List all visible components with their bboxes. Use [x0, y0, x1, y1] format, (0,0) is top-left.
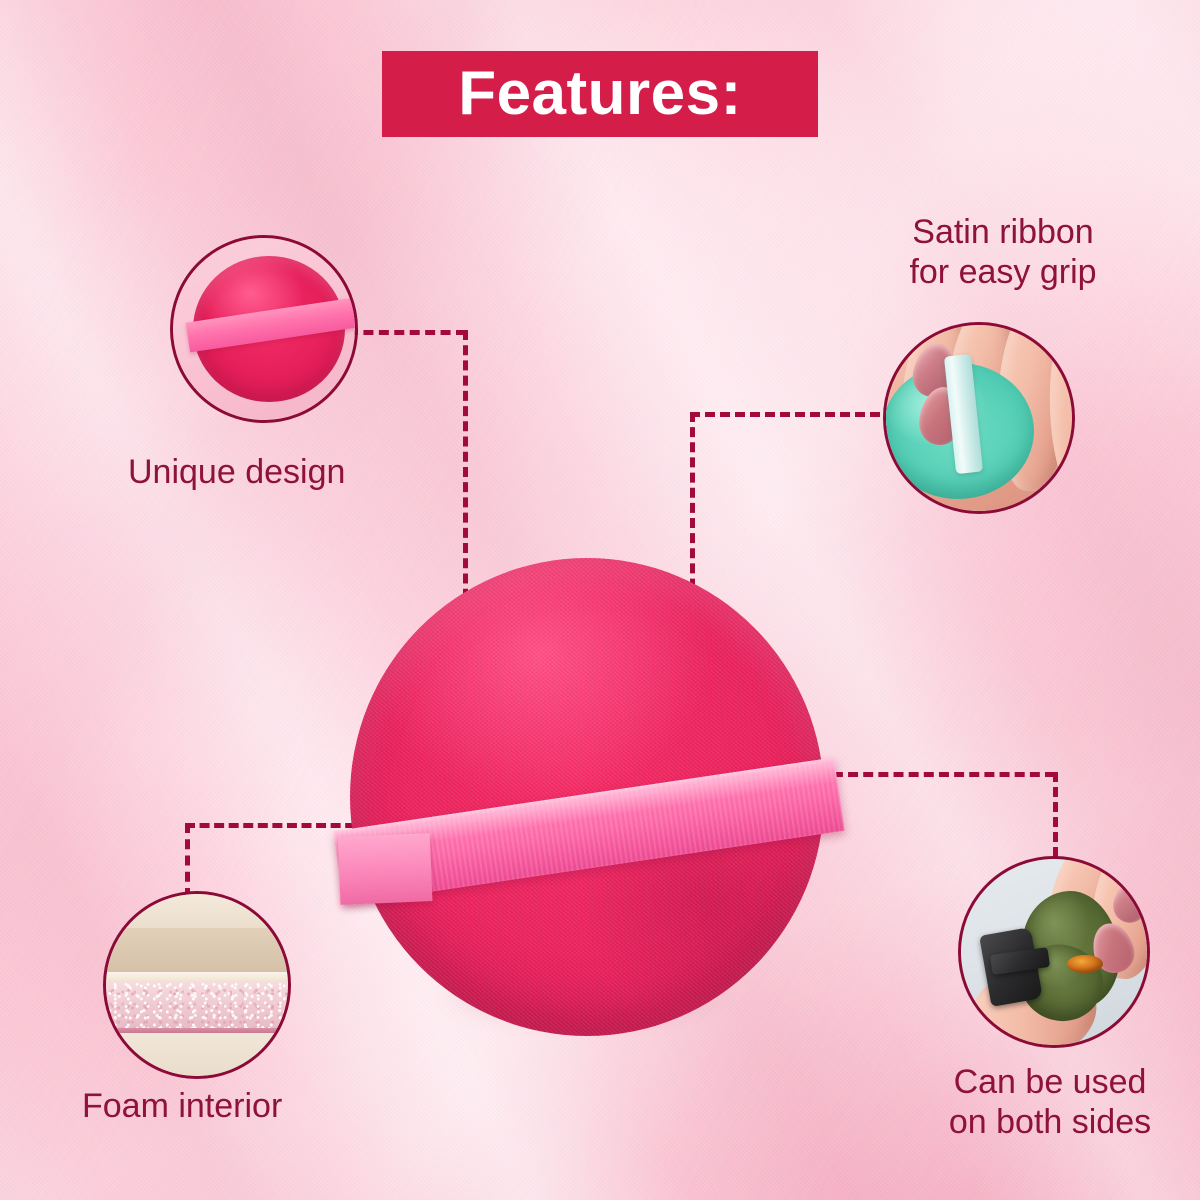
- unique-design-photo: [173, 238, 355, 420]
- foam-layer-highlight: [106, 972, 288, 982]
- foam-layer-top-cream: [106, 894, 288, 928]
- small-puff: [193, 256, 353, 408]
- both-sides-label: Can be used on both sides: [905, 1062, 1195, 1142]
- hero-powder-puff: [350, 558, 824, 1036]
- both-sides-circle: [958, 856, 1150, 1048]
- unique-design-label: Unique design: [128, 452, 428, 492]
- hand-holding-puff-scene: [886, 325, 1072, 511]
- foam-layer-beige: [106, 928, 288, 972]
- amber-highlight: [1067, 955, 1103, 973]
- foam-layer-bottom-cream: [106, 1033, 288, 1076]
- satin-ribbon-label: Satin ribbon for easy grip: [838, 212, 1168, 292]
- foam-speckle-texture: [106, 982, 288, 1028]
- both-sides-photo: [961, 859, 1147, 1045]
- connector-foam-interior-vertical: [185, 823, 190, 898]
- foam-cross-section: [106, 894, 288, 1076]
- foam-interior-circle: [103, 891, 291, 1079]
- satin-ribbon-photo: [886, 325, 1072, 511]
- connector-unique-design-horizontal: [348, 330, 466, 335]
- connector-both-sides-vertical: [1053, 772, 1058, 857]
- unique-design-circle: [170, 235, 358, 423]
- ribbon-tail: [338, 833, 433, 905]
- flipping-puff-scene: [961, 859, 1147, 1045]
- satin-ribbon-circle: [883, 322, 1075, 514]
- connector-satin-ribbon-horizontal: [690, 412, 880, 417]
- foam-interior-photo: [106, 894, 288, 1076]
- features-title-banner: Features:: [382, 51, 818, 137]
- page-title: Features:: [458, 63, 742, 125]
- infographic-canvas: Features: Unique design Satin ribbon for: [0, 0, 1200, 1200]
- foam-interior-label: Foam interior: [82, 1086, 382, 1126]
